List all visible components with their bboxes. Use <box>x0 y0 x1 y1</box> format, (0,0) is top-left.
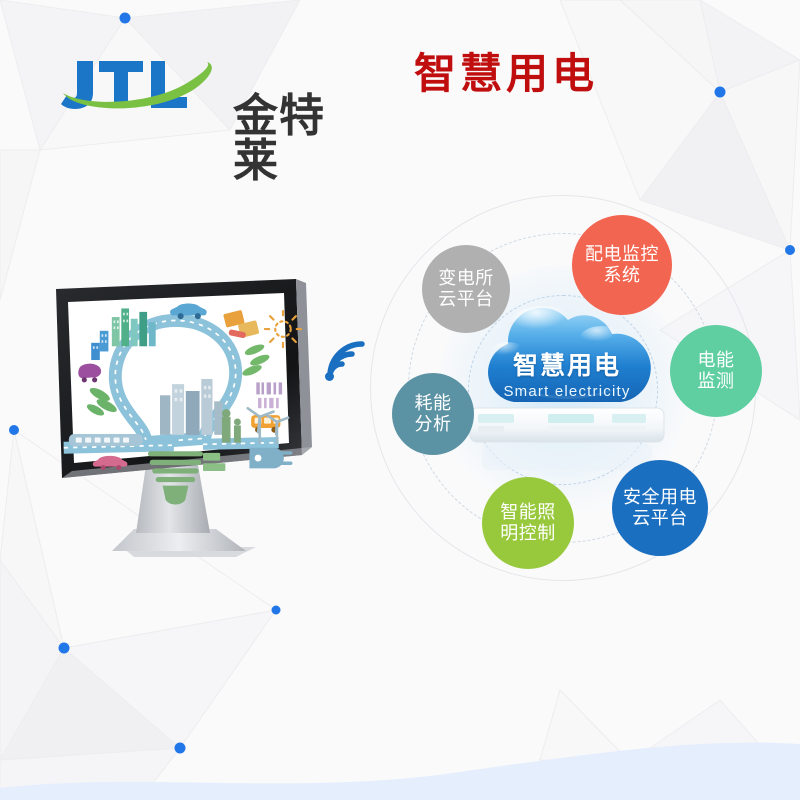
page-title: 智慧用电 <box>414 52 598 96</box>
bubble-label-line: 电能 <box>698 350 735 371</box>
bubble-label: 电能监测 <box>698 350 735 392</box>
bubble-safe-electricity-cloud-platform[interactable]: 安全用电云平台 <box>612 460 708 556</box>
bubble-label-line: 安全用电 <box>623 487 697 508</box>
jtl-logo-icon <box>55 45 230 115</box>
bubble-label-line: 分析 <box>415 414 452 435</box>
bubble-label: 变电所云平台 <box>438 268 494 310</box>
bubble-label: 配电监控系统 <box>585 244 659 286</box>
bubble-label-line: 配电监控 <box>585 244 659 265</box>
bubble-distribution-monitoring-system[interactable]: 配电监控系统 <box>572 215 672 315</box>
bubble-label: 智能照明控制 <box>500 502 556 544</box>
poster-root: 金特莱 智慧用电 <box>0 0 800 800</box>
bubble-label: 安全用电云平台 <box>623 487 697 529</box>
bubble-power-metering[interactable]: 电能监测 <box>670 325 762 417</box>
bubble-label-line: 监测 <box>698 371 735 392</box>
bubble-label-line: 智能照 <box>500 502 556 523</box>
bubble-substation-cloud-platform[interactable]: 变电所云平台 <box>422 245 510 333</box>
bubble-label-line: 云平台 <box>438 289 494 310</box>
bottom-wave <box>0 710 800 800</box>
brand-name-cn: 金特莱 <box>233 93 355 183</box>
bubble-label-line: 变电所 <box>438 268 494 289</box>
brand-logo: 金特莱 <box>55 45 355 115</box>
bubble-label-line: 云平台 <box>623 508 697 529</box>
bubble-label-line: 明控制 <box>500 523 556 544</box>
solution-diagram: 智慧用电 Smart electricity 变电所云平台配电监控系统电能监测耗… <box>360 185 770 595</box>
bubble-label-line: 耗能 <box>415 393 452 414</box>
bubble-intelligent-lighting-control[interactable]: 智能照明控制 <box>482 477 574 569</box>
desktop-monitor <box>50 275 330 565</box>
bubble-energy-consumption-analysis[interactable]: 耗能分析 <box>392 373 474 455</box>
bubble-label: 耗能分析 <box>415 393 452 435</box>
bubble-label-line: 系统 <box>585 265 659 286</box>
header: 金特莱 智慧用电 <box>0 0 800 150</box>
monitor-illustration <box>50 275 330 565</box>
